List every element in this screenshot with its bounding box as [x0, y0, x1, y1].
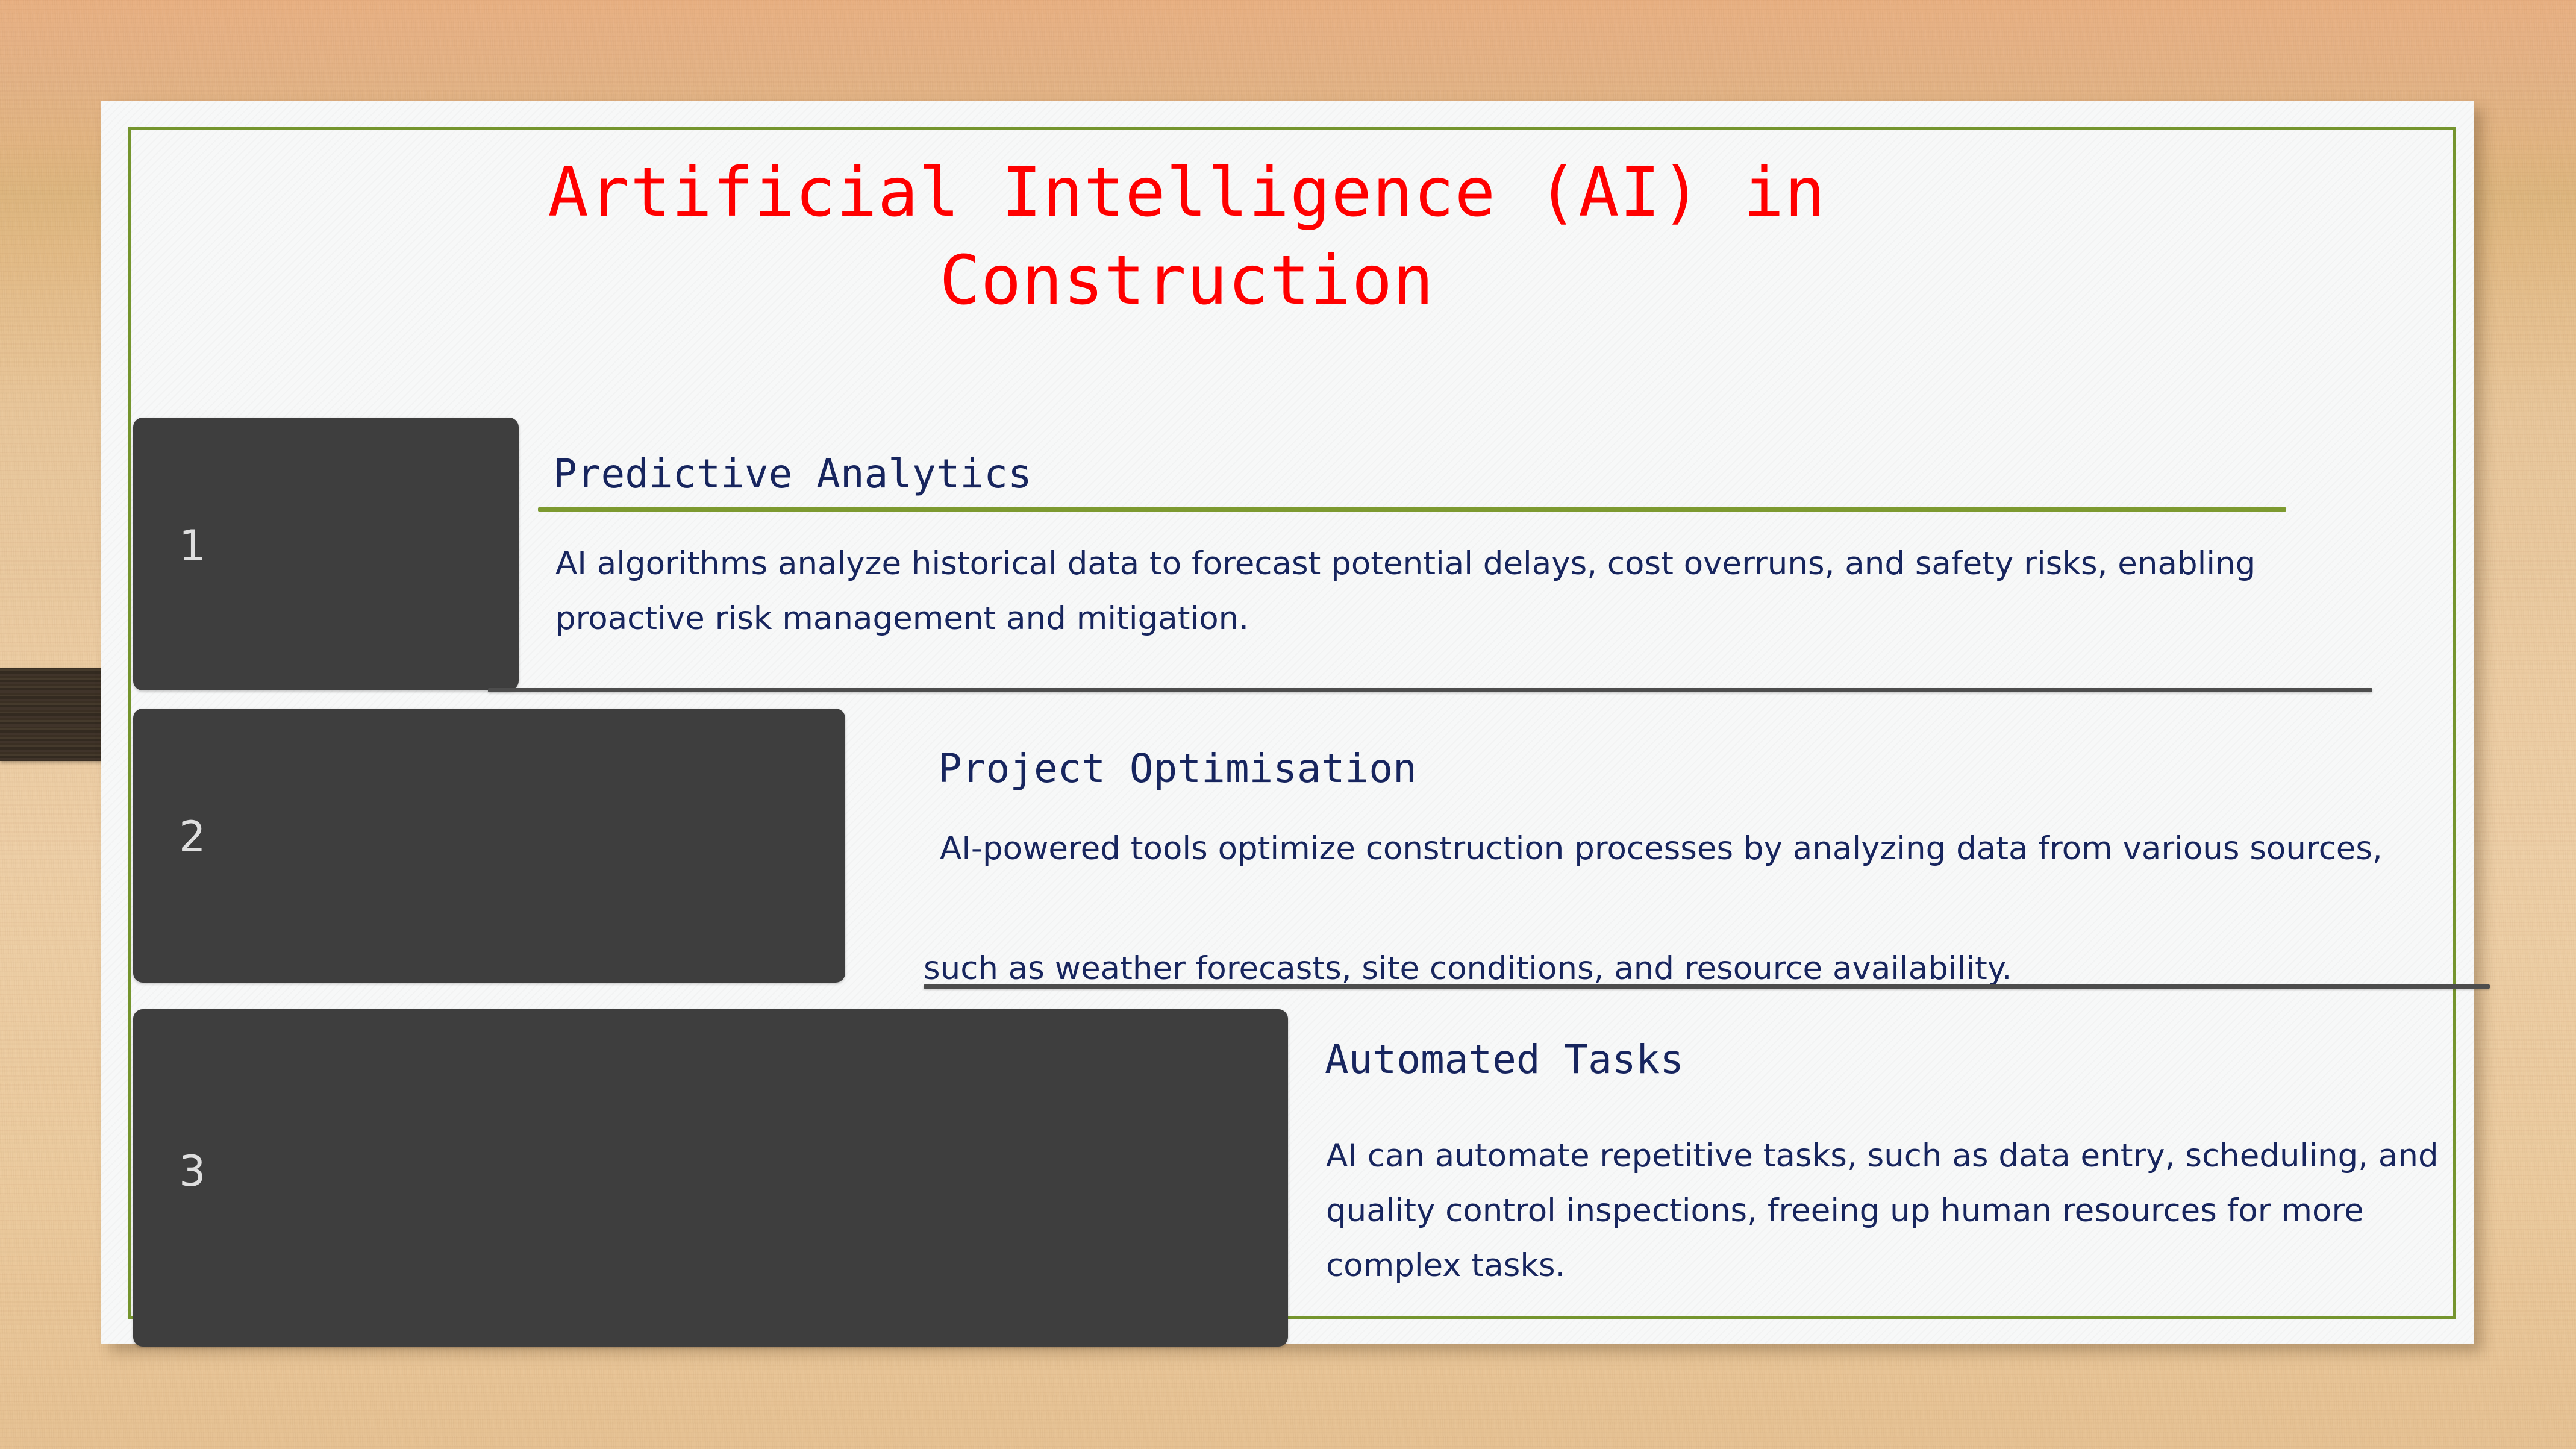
section-heading-3: Automated Tasks	[1325, 1036, 1684, 1083]
section-2-3-divider	[924, 984, 2490, 989]
slide-title: Artificial Intelligence (AI) in Construc…	[181, 149, 2193, 325]
number-block-2-label: 2	[179, 812, 206, 862]
number-block-2: 2	[133, 709, 845, 983]
number-block-3: 3	[133, 1009, 1288, 1347]
section-heading-2: Project Optimisation	[938, 745, 1417, 792]
number-block-1: 1	[133, 418, 519, 690]
number-block-1-label: 1	[179, 521, 206, 571]
section-1-underline	[538, 507, 2286, 512]
section-heading-1: Predictive Analytics	[553, 451, 1032, 497]
section-1-2-divider	[488, 688, 2372, 692]
section-body-3: AI can automate repetitive tasks, such a…	[1326, 1128, 2471, 1293]
section-body-2: AI-powered tools optimize construction p…	[940, 828, 2482, 870]
section-body-1: AI algorithms analyze historical data to…	[555, 536, 2399, 646]
slide-stage: Artificial Intelligence (AI) in Construc…	[0, 0, 2576, 1449]
number-block-3-label: 3	[179, 1147, 206, 1196]
